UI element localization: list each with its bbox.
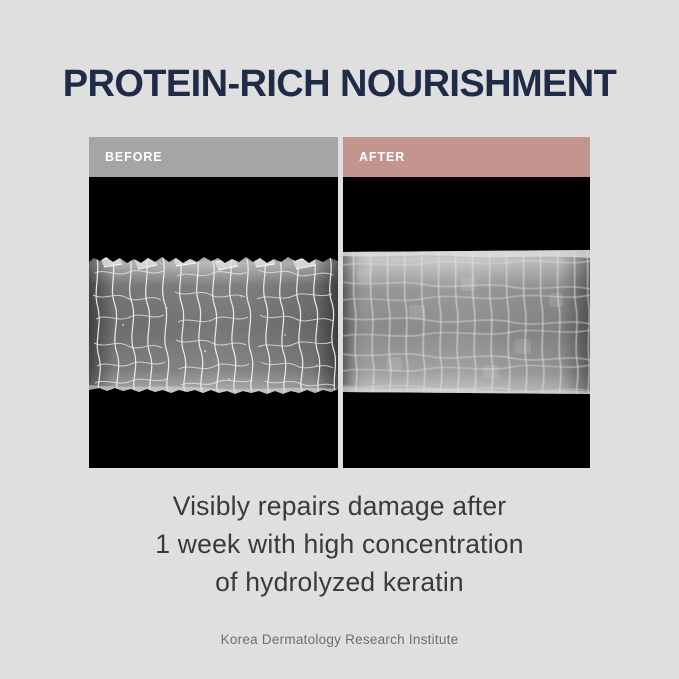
claim-line-3: of hydrolyzed keratin bbox=[0, 563, 679, 601]
before-after-comparison: BEFORE bbox=[89, 137, 590, 468]
comparison-panel-after: AFTER bbox=[343, 137, 590, 468]
before-hair-strand bbox=[89, 253, 338, 399]
research-credit: Korea Dermatology Research Institute bbox=[0, 632, 679, 647]
after-hair-strand bbox=[343, 247, 590, 399]
after-sem-image bbox=[343, 177, 590, 468]
product-claim-card: PROTEIN-RICH NOURISHMENT BEFORE bbox=[0, 0, 679, 679]
claim-text: Visibly repairs damage after 1 week with… bbox=[0, 487, 679, 601]
after-label-band: AFTER bbox=[343, 137, 590, 177]
before-label: BEFORE bbox=[105, 150, 163, 164]
page-title: PROTEIN-RICH NOURISHMENT bbox=[0, 63, 679, 106]
claim-line-2: 1 week with high concentration bbox=[0, 525, 679, 563]
claim-line-1: Visibly repairs damage after bbox=[0, 487, 679, 525]
comparison-panel-before: BEFORE bbox=[89, 137, 338, 468]
before-sem-image bbox=[89, 177, 338, 468]
after-label: AFTER bbox=[359, 150, 405, 164]
before-cuticle-texture bbox=[89, 253, 338, 399]
after-cuticle-texture bbox=[343, 247, 590, 399]
before-label-band: BEFORE bbox=[89, 137, 338, 177]
